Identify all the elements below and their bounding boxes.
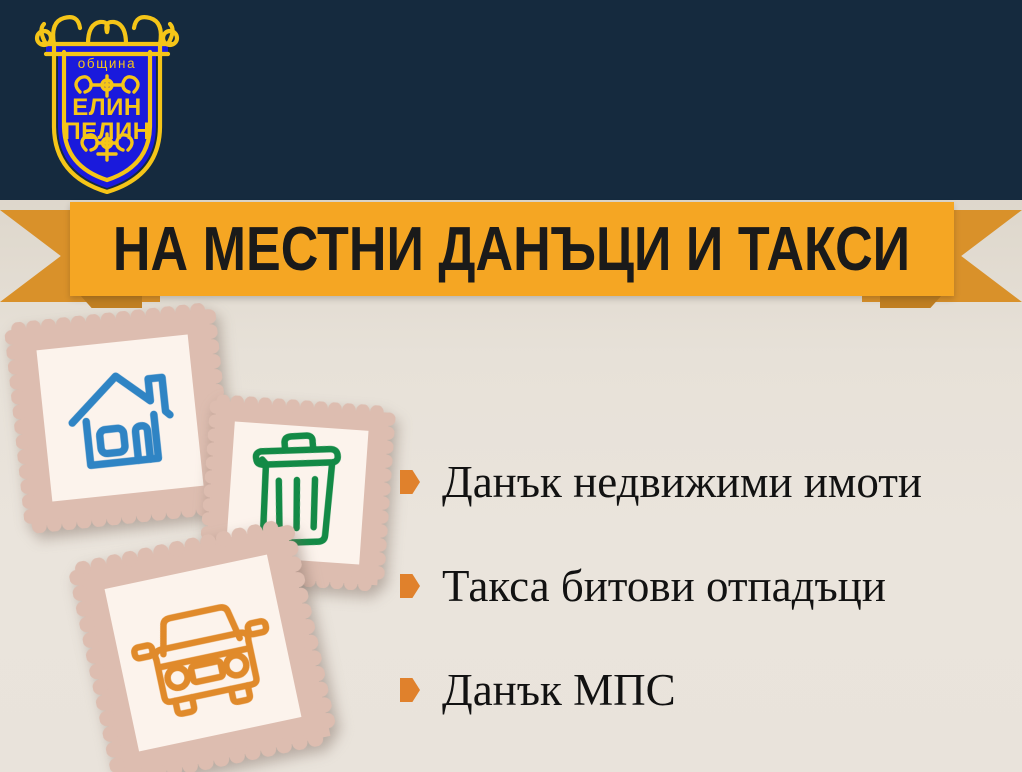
tax-type-list: Данък недвижими имоти Такса битови отпад… bbox=[400, 430, 1010, 742]
stamp-card-house bbox=[4, 302, 237, 535]
list-item-label: Данък недвижими имоти bbox=[442, 460, 922, 505]
list-item-label: Такса битови отпадъци bbox=[442, 564, 886, 609]
bullet-arrow-icon bbox=[400, 470, 420, 494]
logo-text-elin: ЕЛИН bbox=[72, 94, 141, 121]
poster-canvas: община ЕЛИН ПЕЛИН ПРОВЕРКА И ПЛАЩАНЕ НА … bbox=[0, 0, 1022, 772]
subtitle-ribbon: НА МЕСТНИ ДАНЪЦИ И ТАКСИ bbox=[0, 198, 1022, 310]
bullet-arrow-icon bbox=[400, 678, 420, 702]
bullet-arrow-icon bbox=[400, 574, 420, 598]
logo-text-obshtina: община bbox=[78, 56, 136, 71]
logo-text-pelin: ПЕЛИН bbox=[63, 118, 150, 145]
ribbon-main-panel: НА МЕСТНИ ДАНЪЦИ И ТАКСИ bbox=[70, 202, 954, 296]
municipality-logo: община ЕЛИН ПЕЛИН bbox=[28, 8, 186, 194]
stamp-frame-house bbox=[4, 302, 237, 535]
stamp-card-car bbox=[67, 517, 340, 772]
ribbon-label: НА МЕСТНИ ДАНЪЦИ И ТАКСИ bbox=[113, 214, 910, 285]
list-item[interactable]: Данък недвижими имоти bbox=[400, 430, 1010, 534]
stamp-frame-car bbox=[67, 517, 340, 772]
list-item[interactable]: Такса битови отпадъци bbox=[400, 534, 1010, 638]
list-item[interactable]: Данък МПС bbox=[400, 638, 1010, 742]
list-item-label: Данък МПС bbox=[442, 668, 676, 713]
